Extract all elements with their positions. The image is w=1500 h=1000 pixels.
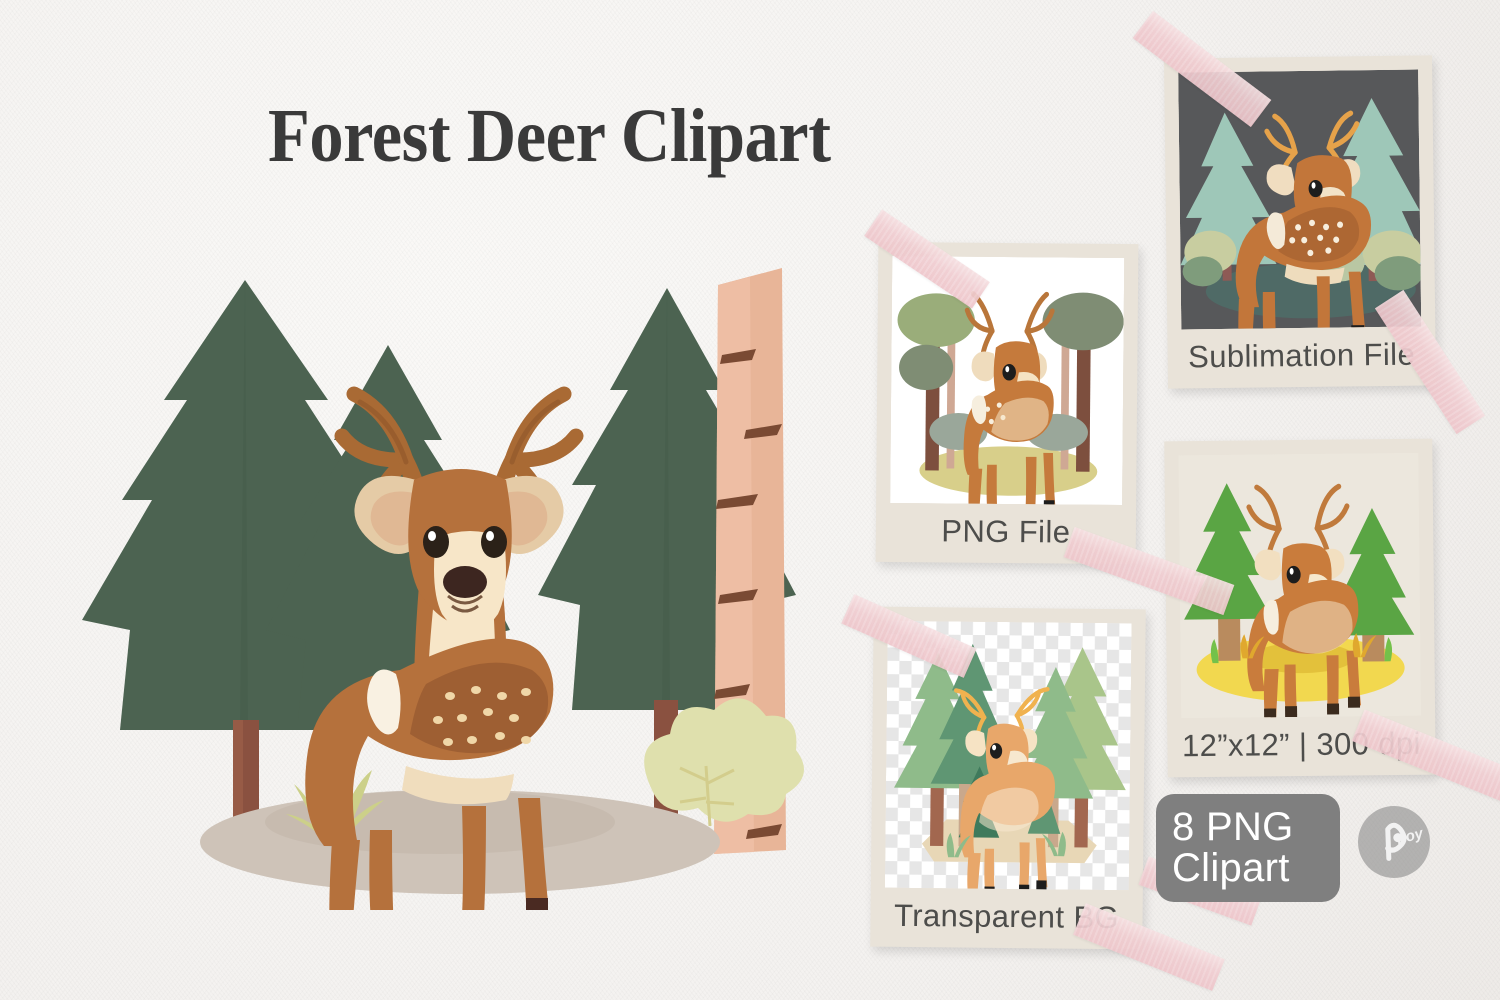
forest-deer-main-illustration xyxy=(70,250,850,910)
product-mockup-canvas: Forest Deer Clipart xyxy=(0,0,1500,1000)
badge-line-2: Clipart xyxy=(1172,848,1340,889)
deer-png-thumbnail xyxy=(890,256,1124,505)
card-caption: Sublimation File xyxy=(1181,327,1422,389)
deer-transparent-thumbnail xyxy=(885,621,1132,891)
deer-sublimation-thumbnail xyxy=(1178,70,1421,330)
anoy-logo: noy xyxy=(1358,806,1430,878)
deer-nose xyxy=(443,566,487,598)
png-count-badge: 8 PNG Clipart xyxy=(1156,794,1340,902)
card-png-file[interactable]: PNG File xyxy=(876,242,1139,564)
deer-hooves xyxy=(330,898,548,910)
page-title: Forest Deer Clipart xyxy=(268,93,831,180)
badge-line-1: 8 PNG xyxy=(1172,807,1340,848)
card-transparent-bg[interactable]: Transparent BG xyxy=(870,607,1146,950)
